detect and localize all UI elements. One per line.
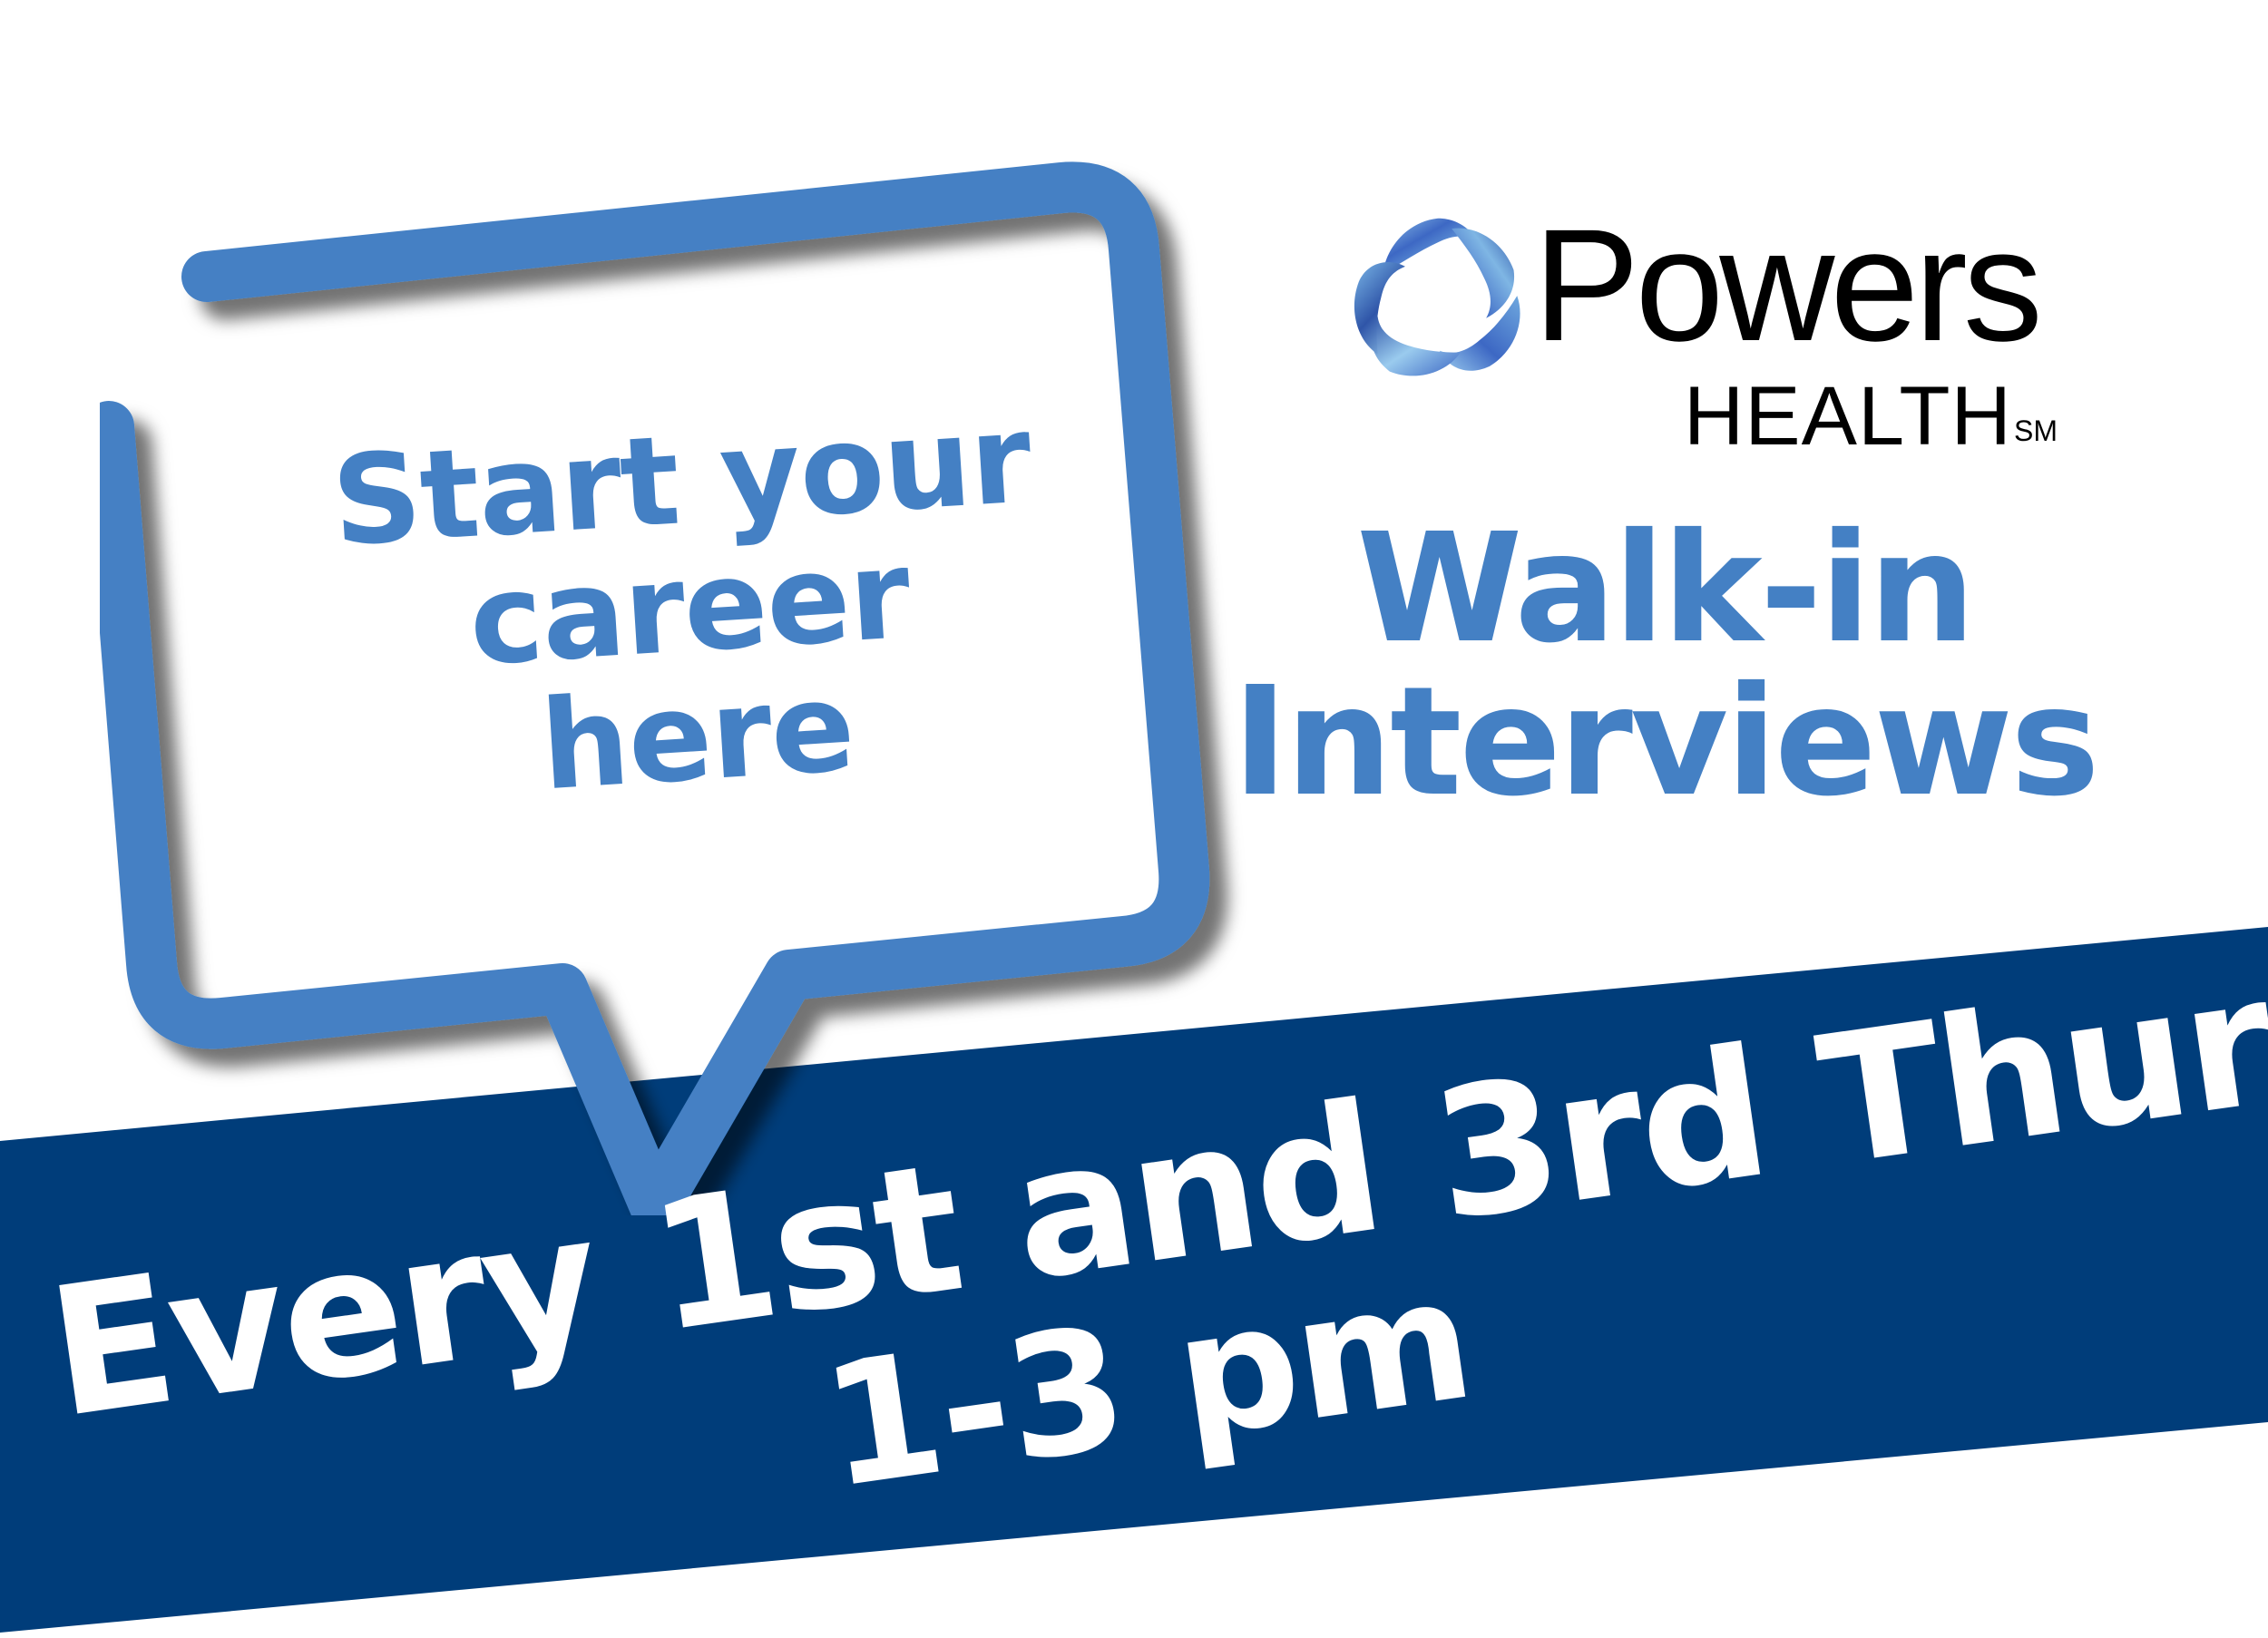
poster-canvas: Start your career here xyxy=(0,0,2268,1638)
brand-wordmark: Powers HEALTHSM xyxy=(1533,206,2059,458)
brand-name-health: HEALTH xyxy=(1684,370,2012,463)
headline: Walk-in Interviews xyxy=(1207,512,2123,820)
brand-name-powers: Powers xyxy=(1533,206,2059,366)
headline-line-2: Interviews xyxy=(1207,666,2123,819)
speech-bubble-outline-path xyxy=(109,187,1184,1206)
powers-pentagon-knot-icon xyxy=(1352,213,1524,381)
brand-logo: Powers HEALTHSM xyxy=(1352,213,2059,449)
brand-sub-row: HEALTHSM xyxy=(1533,375,2059,458)
speech-bubble: Start your career here xyxy=(100,145,1288,1215)
headline-line-1: Walk-in xyxy=(1207,512,2123,666)
service-mark: SM xyxy=(2014,414,2058,447)
